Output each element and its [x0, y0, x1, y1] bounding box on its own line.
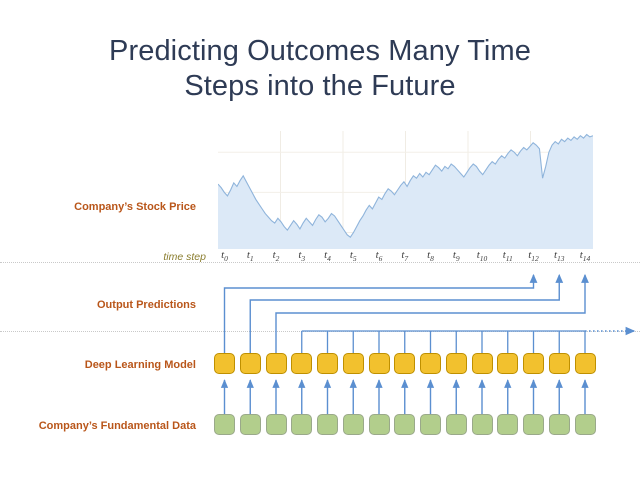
model-node-12[interactable] — [523, 353, 544, 374]
model-node-8[interactable] — [420, 353, 441, 374]
fundamental-node-9[interactable] — [446, 414, 467, 435]
model-node-14[interactable] — [575, 353, 596, 374]
fundamental-node-11[interactable] — [497, 414, 518, 435]
fundamental-node-1[interactable] — [240, 414, 261, 435]
model-node-5[interactable] — [343, 353, 364, 374]
fundamental-node-0[interactable] — [214, 414, 235, 435]
fundamental-node-10[interactable] — [472, 414, 493, 435]
slide-canvas: Predicting Outcomes Many Time Steps into… — [0, 0, 640, 495]
model-node-4[interactable] — [317, 353, 338, 374]
model-node-3[interactable] — [291, 353, 312, 374]
model-node-1[interactable] — [240, 353, 261, 374]
fundamental-node-12[interactable] — [523, 414, 544, 435]
model-node-7[interactable] — [394, 353, 415, 374]
fundamental-node-5[interactable] — [343, 414, 364, 435]
model-node-6[interactable] — [369, 353, 390, 374]
fundamental-node-8[interactable] — [420, 414, 441, 435]
fundamental-node-2[interactable] — [266, 414, 287, 435]
model-node-13[interactable] — [549, 353, 570, 374]
fundamental-node-13[interactable] — [549, 414, 570, 435]
model-node-11[interactable] — [497, 353, 518, 374]
fundamental-node-4[interactable] — [317, 414, 338, 435]
fundamental-node-3[interactable] — [291, 414, 312, 435]
fundamental-node-14[interactable] — [575, 414, 596, 435]
fundamental-node-6[interactable] — [369, 414, 390, 435]
model-node-2[interactable] — [266, 353, 287, 374]
fundamental-node-7[interactable] — [394, 414, 415, 435]
model-node-10[interactable] — [472, 353, 493, 374]
model-node-9[interactable] — [446, 353, 467, 374]
model-node-0[interactable] — [214, 353, 235, 374]
